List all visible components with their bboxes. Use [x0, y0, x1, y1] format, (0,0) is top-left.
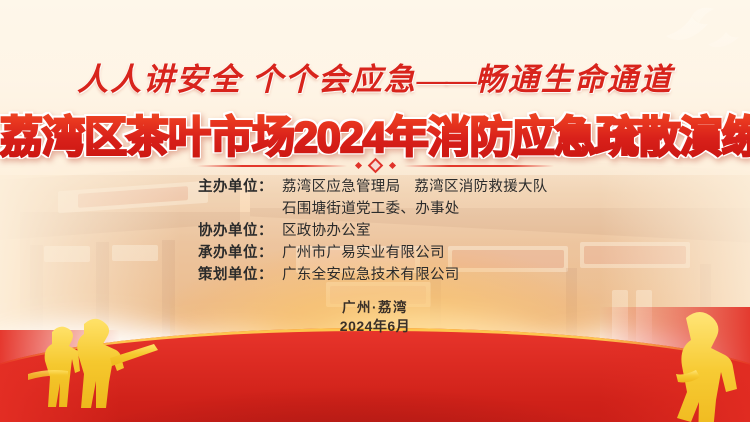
poster-subtitle: 人人讲安全 个个会应急——畅通生命通道 [0, 54, 750, 99]
divider-ornament [0, 160, 750, 171]
footer-location: 广州·荔湾 [0, 298, 750, 317]
subtitle-dash: —— [417, 62, 475, 97]
footer-date: 2024年6月 [0, 317, 750, 336]
organizer-row: 石围塘街道党工委、办事处 [165, 200, 585, 219]
diamond-icon [354, 162, 361, 169]
poster-main-title: 荔湾区茶叶市场2024年消防应急疏散演练 [0, 103, 750, 165]
poster-footer: 广州·荔湾 2024年6月 [0, 298, 750, 336]
divider-rule-right [404, 165, 554, 167]
organizer-value: 广东全安应急技术有限公司 [273, 266, 460, 285]
organizer-label [165, 200, 273, 219]
organizer-label: 承办单位： [165, 244, 273, 263]
organizer-row: 策划单位： 广东全安应急技术有限公司 [165, 266, 585, 285]
organizer-label: 主办单位： [165, 178, 273, 197]
organizer-row: 协办单位： 区政协办公室 [165, 222, 585, 241]
organizer-list: 主办单位： 荔湾区应急管理局荔湾区消防救援大队 石围塘街道党工委、办事处 协办单… [0, 178, 750, 285]
organizer-value-b: 荔湾区消防救援大队 [414, 179, 547, 195]
organizer-row: 承办单位： 广州市广易实业有限公司 [165, 244, 585, 263]
organizer-label: 协办单位： [165, 222, 273, 241]
organizer-value: 广州市广易实业有限公司 [273, 244, 445, 263]
organizer-label: 策划单位： [165, 266, 273, 285]
subtitle-part2: 畅通生命通道 [475, 62, 673, 97]
subtitle-part1: 人人讲安全 个个会应急 [77, 62, 417, 97]
diamond-center-icon [367, 158, 383, 174]
event-poster: 人人讲安全 个个会应急——畅通生命通道 荔湾区茶叶市场2024年消防应急疏散演练… [0, 0, 750, 422]
divider-rule-left [197, 165, 347, 167]
organizer-value-a: 荔湾区应急管理局 [282, 179, 400, 195]
diamond-icon [388, 162, 395, 169]
organizer-value: 石围塘街道党工委、办事处 [273, 200, 460, 219]
organizer-value: 区政协办公室 [273, 222, 371, 241]
organizer-row: 主办单位： 荔湾区应急管理局荔湾区消防救援大队 [165, 178, 585, 197]
organizer-value: 荔湾区应急管理局荔湾区消防救援大队 [273, 178, 548, 197]
